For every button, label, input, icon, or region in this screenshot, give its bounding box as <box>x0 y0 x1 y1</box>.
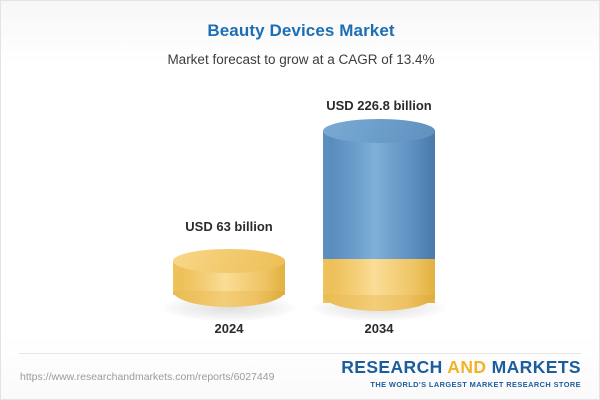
chart-subtitle: Market forecast to grow at a CAGR of 13.… <box>1 52 600 67</box>
infographic-card: Beauty Devices Market Market forecast to… <box>0 0 600 400</box>
page-title: Beauty Devices Market <box>1 21 600 41</box>
bar-2034-segment-growth <box>323 131 435 259</box>
chart-header: Beauty Devices Market Market forecast to… <box>1 21 600 67</box>
brand-logo-research: RESEARCH <box>341 357 442 377</box>
bar-2024-bottom-cap <box>173 291 285 307</box>
brand-logo[interactable]: RESEARCH AND MARKETS THE WORLD'S LARGEST… <box>341 359 581 388</box>
category-label-2034: 2034 <box>329 321 429 336</box>
bar-2034 <box>323 119 435 311</box>
brand-logo-tagline: THE WORLD'S LARGEST MARKET RESEARCH STOR… <box>341 381 581 388</box>
bar-2024-top-cap <box>173 249 285 273</box>
bar-2034-top-cap <box>323 119 435 143</box>
value-label-2024: USD 63 billion <box>139 219 319 234</box>
footer-divider <box>19 353 581 354</box>
source-url-link[interactable]: https://www.researchandmarkets.com/repor… <box>20 371 274 383</box>
brand-logo-and: AND <box>447 357 486 377</box>
brand-logo-markets: MARKETS <box>492 357 581 377</box>
category-label-2024: 2024 <box>179 321 279 336</box>
bar-2024 <box>173 249 285 311</box>
brand-logo-wordmark: RESEARCH AND MARKETS <box>341 359 581 377</box>
bar-2034-bottom-cap <box>323 295 435 311</box>
value-label-2034: USD 226.8 billion <box>289 98 469 113</box>
